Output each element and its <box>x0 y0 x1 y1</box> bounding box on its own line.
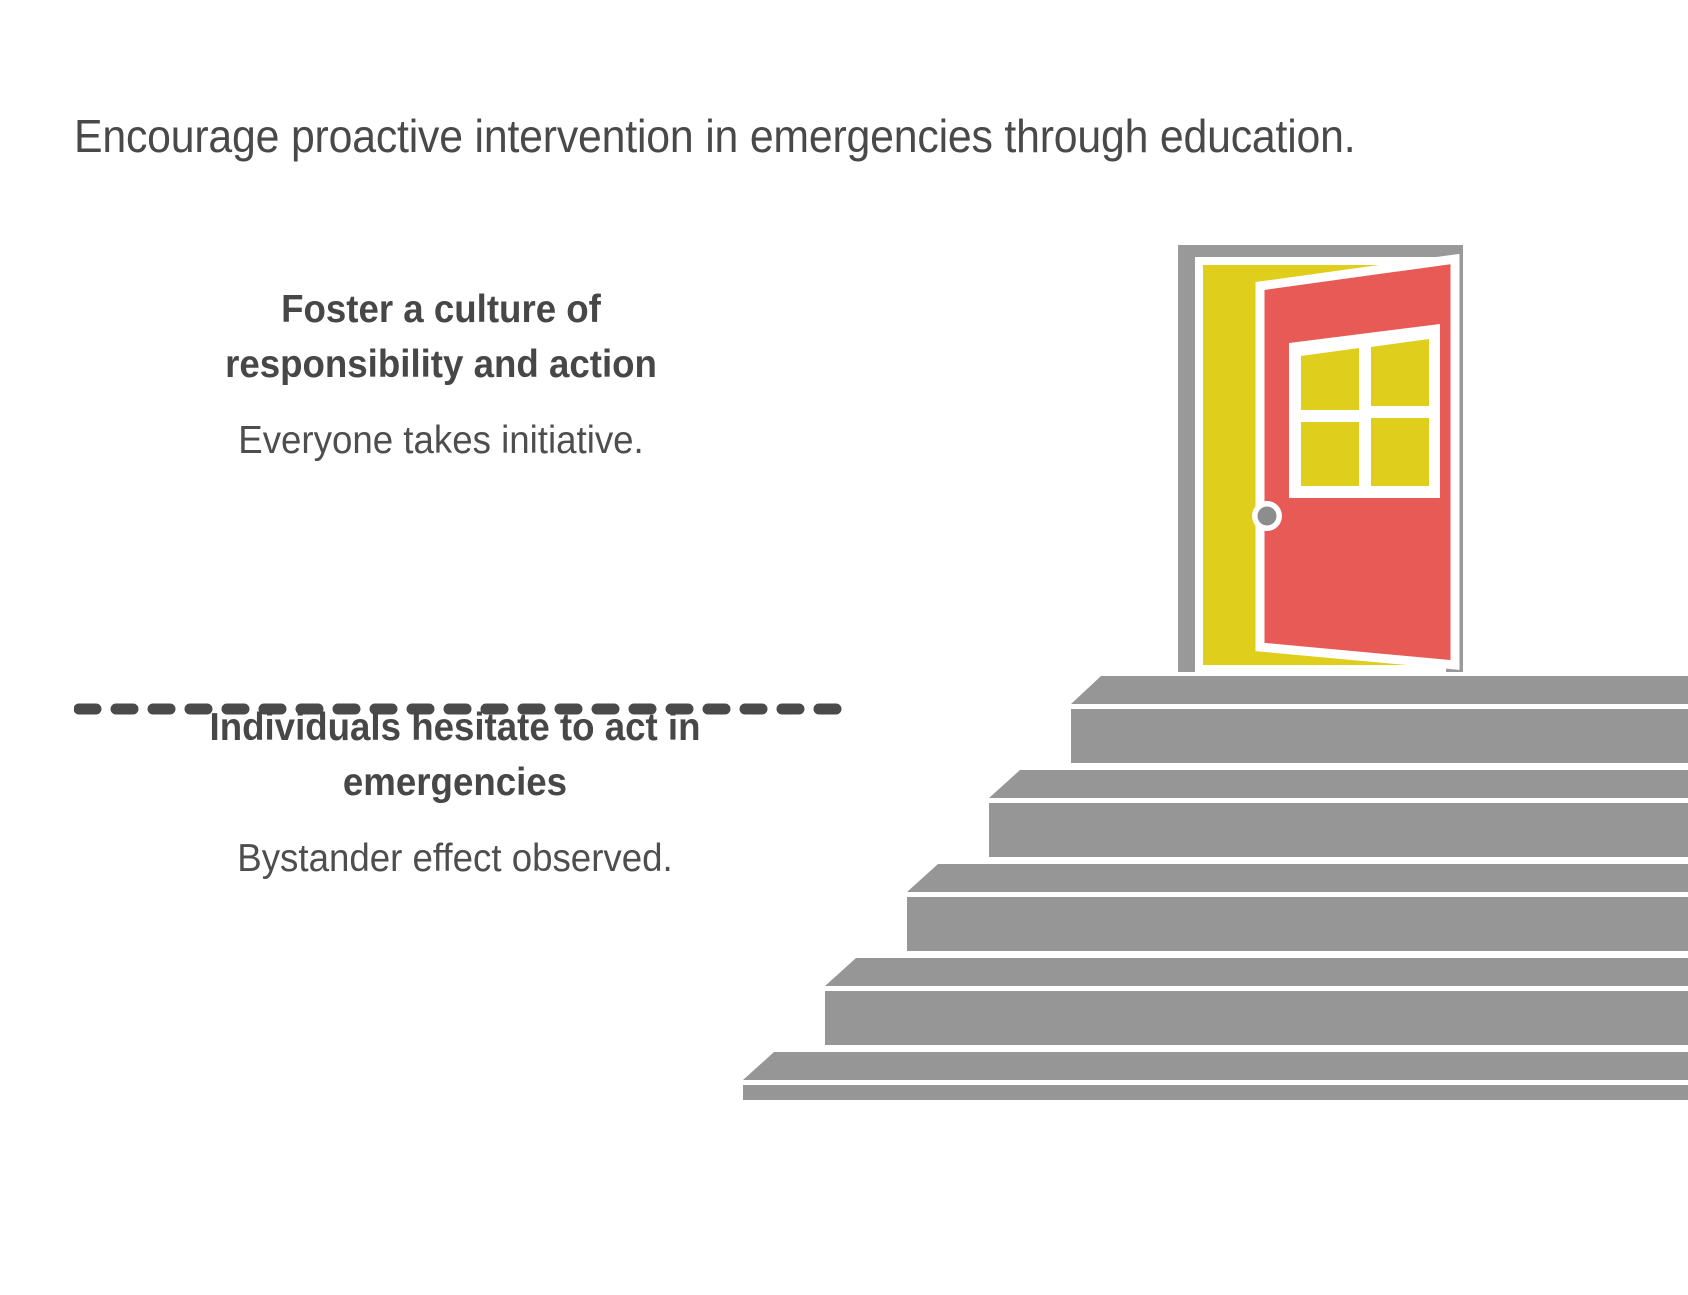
stair-step-1-tread <box>1071 676 1688 704</box>
block-upper-subtitle: Everyone takes initiative. <box>117 415 766 468</box>
stair-step-5-tread <box>743 1052 1688 1080</box>
slide-canvas: Encourage proactive intervention in emer… <box>0 0 1688 1295</box>
stair-step-4-riser <box>825 991 1688 1045</box>
staircase <box>743 676 1688 1100</box>
door-window-pane-bottom-right <box>1371 418 1429 486</box>
stair-step-3-tread <box>907 864 1688 892</box>
block-upper-title: Foster a culture of responsibility and a… <box>117 282 766 393</box>
stair-step-1-riser <box>1071 709 1688 763</box>
text-block-upper: Foster a culture of responsibility and a… <box>96 282 786 467</box>
door-stairs-icon <box>700 210 1688 1100</box>
door-knob[interactable] <box>1258 507 1277 526</box>
door-window <box>1289 324 1440 498</box>
block-upper-title-line-2: responsibility and action <box>117 337 766 392</box>
open-door-staircase-illustration <box>700 210 1688 1100</box>
stair-step-5-riser <box>743 1085 1688 1100</box>
door-group <box>1178 245 1463 672</box>
stair-step-3-riser <box>907 897 1688 951</box>
stair-step-3 <box>907 864 1688 951</box>
door-window-pane-top-left <box>1301 348 1359 410</box>
stair-step-4-tread <box>825 958 1688 986</box>
stair-step-2-riser <box>989 803 1688 857</box>
stair-step-4 <box>825 958 1688 1045</box>
block-upper-title-line-1: Foster a culture of <box>117 282 766 337</box>
door-window-pane-bottom-left <box>1301 422 1359 486</box>
stair-step-5 <box>743 1052 1688 1100</box>
door-window-pane-top-right <box>1371 339 1429 406</box>
stair-step-1 <box>1071 676 1688 763</box>
stair-step-2-tread <box>989 770 1688 798</box>
page-title: Encourage proactive intervention in emer… <box>74 108 1423 164</box>
stair-step-2 <box>989 770 1688 857</box>
